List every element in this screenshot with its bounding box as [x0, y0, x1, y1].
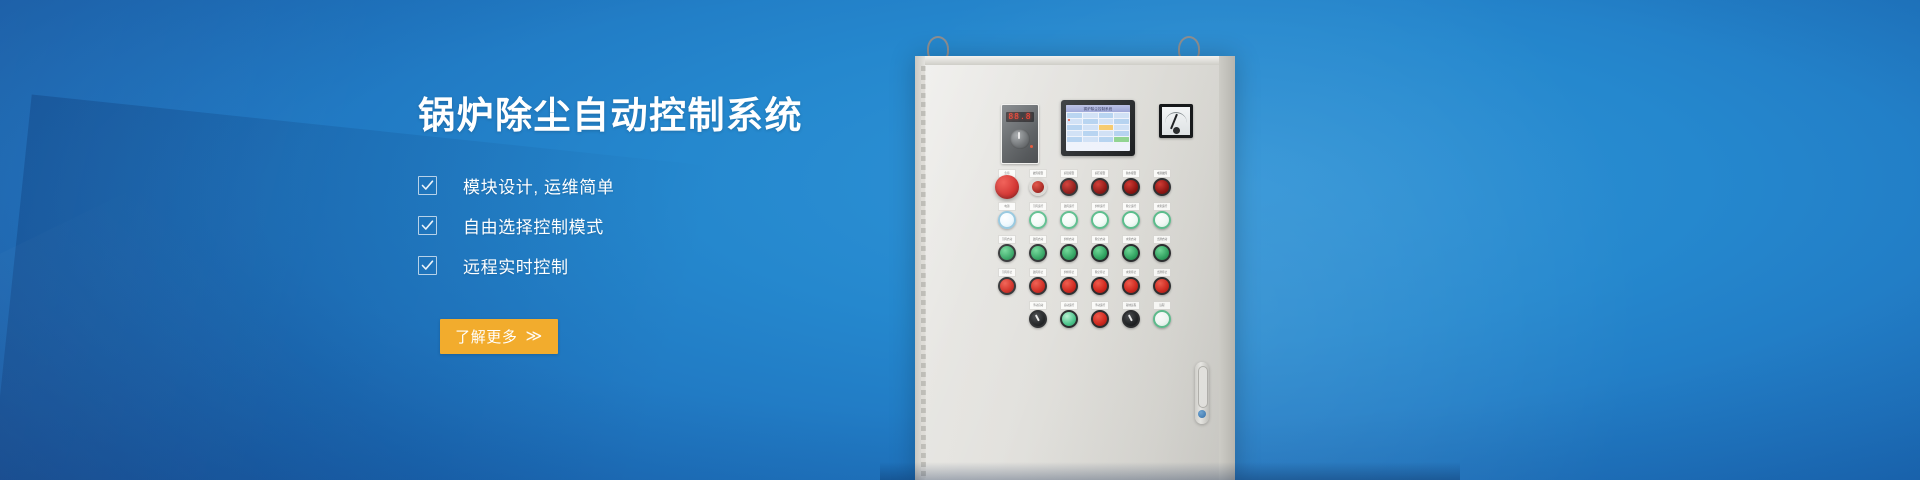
run-indicator-lamp[interactable] — [1060, 211, 1078, 229]
run-indicator-lamp[interactable] — [1029, 211, 1047, 229]
hmi-header-bar: 锅炉除尘控制系统 — [1066, 105, 1130, 112]
selector-switch[interactable] — [1029, 310, 1047, 328]
button-tag: 除尘运行 — [1122, 202, 1140, 211]
button-slot: 除尘停止 — [1086, 273, 1117, 295]
button-slot: 超压报警 — [1086, 174, 1117, 196]
button-slot: 炉排启动 — [1055, 240, 1086, 262]
feature-item-1: 模块设计, 运维简单 — [418, 173, 938, 199]
chevron-right-icon: ≫ — [526, 326, 543, 346]
hmi-row — [1067, 131, 1129, 136]
cabinet-right-edge — [1219, 56, 1235, 480]
button-tag: 除尘停止 — [1091, 268, 1109, 277]
button-slot: 就地远程 — [1117, 306, 1148, 328]
button-tag: 水泵停止 — [1122, 268, 1140, 277]
drive-display-screen: 88.8 — [1006, 112, 1034, 122]
meter-hub — [1173, 127, 1180, 134]
learn-more-label: 了解更多 — [455, 326, 517, 347]
button-tag: 引风启动 — [998, 235, 1016, 244]
start-button[interactable] — [998, 244, 1016, 262]
checkbox-checked-icon — [418, 216, 437, 235]
button-tag: 出渣启动 — [1153, 235, 1171, 244]
button-slot: 远程 — [1148, 306, 1179, 328]
start-button[interactable] — [1060, 244, 1078, 262]
button-slot: 出渣启动 — [1148, 240, 1179, 262]
button-slot: 急停 — [993, 174, 1024, 196]
stop-button[interactable] — [1153, 277, 1171, 295]
button-slot: 炉排停止 — [1055, 273, 1086, 295]
photo-floor-shadow — [880, 462, 1460, 480]
hero-banner: 锅炉除尘自动控制系统 模块设计, 运维简单 自由选择控制模式 — [0, 0, 1920, 480]
alarm-indicator-lamp[interactable] — [1060, 178, 1078, 196]
button-tag: 引风运行 — [1029, 202, 1047, 211]
selector-switch-row: 手动自动 自动运行 手动运行 就地远程 远程 — [993, 306, 1183, 328]
power-indicator-lamp[interactable] — [998, 211, 1016, 229]
stop-button[interactable] — [1091, 277, 1109, 295]
feature-item-3: 远程实时控制 — [418, 253, 938, 279]
button-tag: 鼓风停止 — [1029, 268, 1047, 277]
hmi-touch-panel[interactable]: 锅炉除尘控制系统 — [1061, 100, 1135, 156]
button-tag: 炉排停止 — [1060, 268, 1078, 277]
button-tag: 引风停止 — [998, 268, 1016, 277]
analog-panel-meter — [1159, 104, 1193, 138]
hmi-row — [1067, 119, 1129, 124]
door-lock-icon[interactable] — [1198, 410, 1206, 418]
button-slot-empty — [993, 306, 1024, 328]
start-button[interactable] — [1122, 244, 1140, 262]
start-button[interactable] — [1153, 244, 1171, 262]
checkbox-checked-icon — [418, 256, 437, 275]
drive-display-value: 88.8 — [1008, 113, 1031, 121]
handle-grip — [1198, 366, 1208, 408]
button-tag: 水泵启动 — [1122, 235, 1140, 244]
alarm-indicator-lamp[interactable] — [1153, 178, 1171, 196]
page-title: 锅炉除尘自动控制系统 — [418, 96, 938, 137]
button-slot: 鼓风运行 — [1055, 207, 1086, 229]
button-tag: 鼓风运行 — [1060, 202, 1078, 211]
stop-button[interactable] — [1122, 277, 1140, 295]
control-button-grid: 急停 故障报警 超温报警 超压报警 缺水报警 电源故障 电源 引风运行 鼓风运行… — [993, 174, 1183, 339]
button-slot: 引风启动 — [993, 240, 1024, 262]
power-indicator-row: 电源 引风运行 鼓风运行 炉排运行 除尘运行 水泵运行 — [993, 207, 1183, 229]
button-slot: 手动自动 — [1024, 306, 1055, 328]
drive-rotary-knob[interactable] — [1010, 129, 1030, 149]
feature-item-3-label: 远程实时控制 — [463, 253, 569, 278]
selector-switch[interactable] — [1122, 310, 1140, 328]
button-tag: 出渣停止 — [1153, 268, 1171, 277]
button-tag: 炉排启动 — [1060, 235, 1078, 244]
button-slot: 鼓风停止 — [1024, 273, 1055, 295]
button-tag: 电源故障 — [1153, 169, 1171, 178]
button-slot: 缺水报警 — [1117, 174, 1148, 196]
feature-item-2: 自由选择控制模式 — [418, 213, 938, 239]
hmi-header-label: 锅炉除尘控制系统 — [1084, 106, 1113, 111]
start-button[interactable] — [1029, 244, 1047, 262]
button-tag: 鼓风启动 — [1029, 235, 1047, 244]
button-slot: 水泵停止 — [1117, 273, 1148, 295]
button-slot: 超温报警 — [1055, 174, 1086, 196]
hmi-row — [1067, 137, 1129, 142]
button-tag: 就地远程 — [1122, 301, 1140, 310]
drive-status-led-icon — [1030, 145, 1033, 148]
button-slot: 自动运行 — [1055, 306, 1086, 328]
alarm-indicator-lamp[interactable] — [1122, 178, 1140, 196]
button-slot: 水泵运行 — [1148, 207, 1179, 229]
button-tag: 故障报警 — [1029, 169, 1047, 178]
learn-more-button[interactable]: 了解更多 ≫ — [440, 319, 558, 354]
checkbox-checked-icon — [418, 176, 437, 195]
hmi-data-rows — [1066, 112, 1130, 144]
run-indicator-lamp[interactable] — [1091, 211, 1109, 229]
stop-button[interactable] — [1060, 277, 1078, 295]
cabinet-top-edge — [915, 56, 1235, 65]
remote-mode-lamp[interactable] — [1153, 310, 1171, 328]
button-slot: 出渣停止 — [1148, 273, 1179, 295]
emergency-and-alarm-row: 急停 故障报警 超温报警 超压报警 缺水报警 电源故障 — [993, 174, 1183, 196]
button-tag: 电源 — [998, 202, 1016, 211]
stop-button[interactable] — [1029, 277, 1047, 295]
button-tag: 水泵运行 — [1153, 202, 1171, 211]
cabinet-door-handle[interactable] — [1195, 362, 1209, 424]
stop-button[interactable] — [998, 277, 1016, 295]
button-tag: 超压报警 — [1091, 169, 1109, 178]
button-tag: 自动运行 — [1060, 301, 1078, 310]
button-tag: 超温报警 — [1060, 169, 1078, 178]
alarm-indicator-lamp[interactable] — [1091, 178, 1109, 196]
button-slot: 引风停止 — [993, 273, 1024, 295]
emergency-stop-button[interactable] — [995, 175, 1019, 199]
auto-mode-lamp[interactable] — [1060, 310, 1078, 328]
button-slot: 除尘运行 — [1117, 207, 1148, 229]
control-cabinet-photo: 88.8 锅炉除尘控制系统 — [880, 0, 1460, 480]
button-tag: 远程 — [1153, 301, 1171, 310]
button-tag: 缺水报警 — [1122, 169, 1140, 178]
hero-copy-block: 锅炉除尘自动控制系统 模块设计, 运维简单 自由选择控制模式 — [418, 96, 938, 354]
run-indicator-lamp[interactable] — [1153, 211, 1171, 229]
button-tag: 手动自动 — [1029, 301, 1047, 310]
alarm-indicator-lamp[interactable] — [1029, 178, 1047, 196]
hmi-screen: 锅炉除尘控制系统 — [1066, 105, 1130, 151]
hmi-row — [1067, 125, 1129, 130]
hmi-power-led-icon — [1068, 119, 1070, 121]
button-tag: 手动运行 — [1091, 301, 1109, 310]
feature-item-1-label: 模块设计, 运维简单 — [463, 173, 614, 198]
button-slot: 鼓风启动 — [1024, 240, 1055, 262]
hmi-row — [1067, 113, 1129, 118]
button-slot: 引风运行 — [1024, 207, 1055, 229]
button-slot: 电源 — [993, 207, 1024, 229]
cabinet-hinge — [921, 66, 926, 478]
button-slot: 手动运行 — [1086, 306, 1117, 328]
start-button-row: 引风启动 鼓风启动 炉排启动 除尘启动 水泵启动 出渣启动 — [993, 240, 1183, 262]
button-slot: 故障报警 — [1024, 174, 1055, 196]
control-cabinet-body: 88.8 锅炉除尘控制系统 — [915, 56, 1235, 480]
digital-display-drive: 88.8 — [1001, 104, 1039, 164]
stop-button-row: 引风停止 鼓风停止 炉排停止 除尘停止 水泵停止 出渣停止 — [993, 273, 1183, 295]
meter-face — [1162, 107, 1190, 135]
button-slot: 炉排运行 — [1086, 207, 1117, 229]
start-button[interactable] — [1091, 244, 1109, 262]
button-slot: 水泵启动 — [1117, 240, 1148, 262]
button-tag: 除尘启动 — [1091, 235, 1109, 244]
button-tag: 炉排运行 — [1091, 202, 1109, 211]
button-slot: 电源故障 — [1148, 174, 1179, 196]
manual-mode-lamp[interactable] — [1091, 310, 1109, 328]
feature-list: 模块设计, 运维简单 自由选择控制模式 远程实时控制 — [418, 173, 938, 279]
run-indicator-lamp[interactable] — [1122, 211, 1140, 229]
button-slot: 除尘启动 — [1086, 240, 1117, 262]
feature-item-2-label: 自由选择控制模式 — [463, 213, 604, 238]
